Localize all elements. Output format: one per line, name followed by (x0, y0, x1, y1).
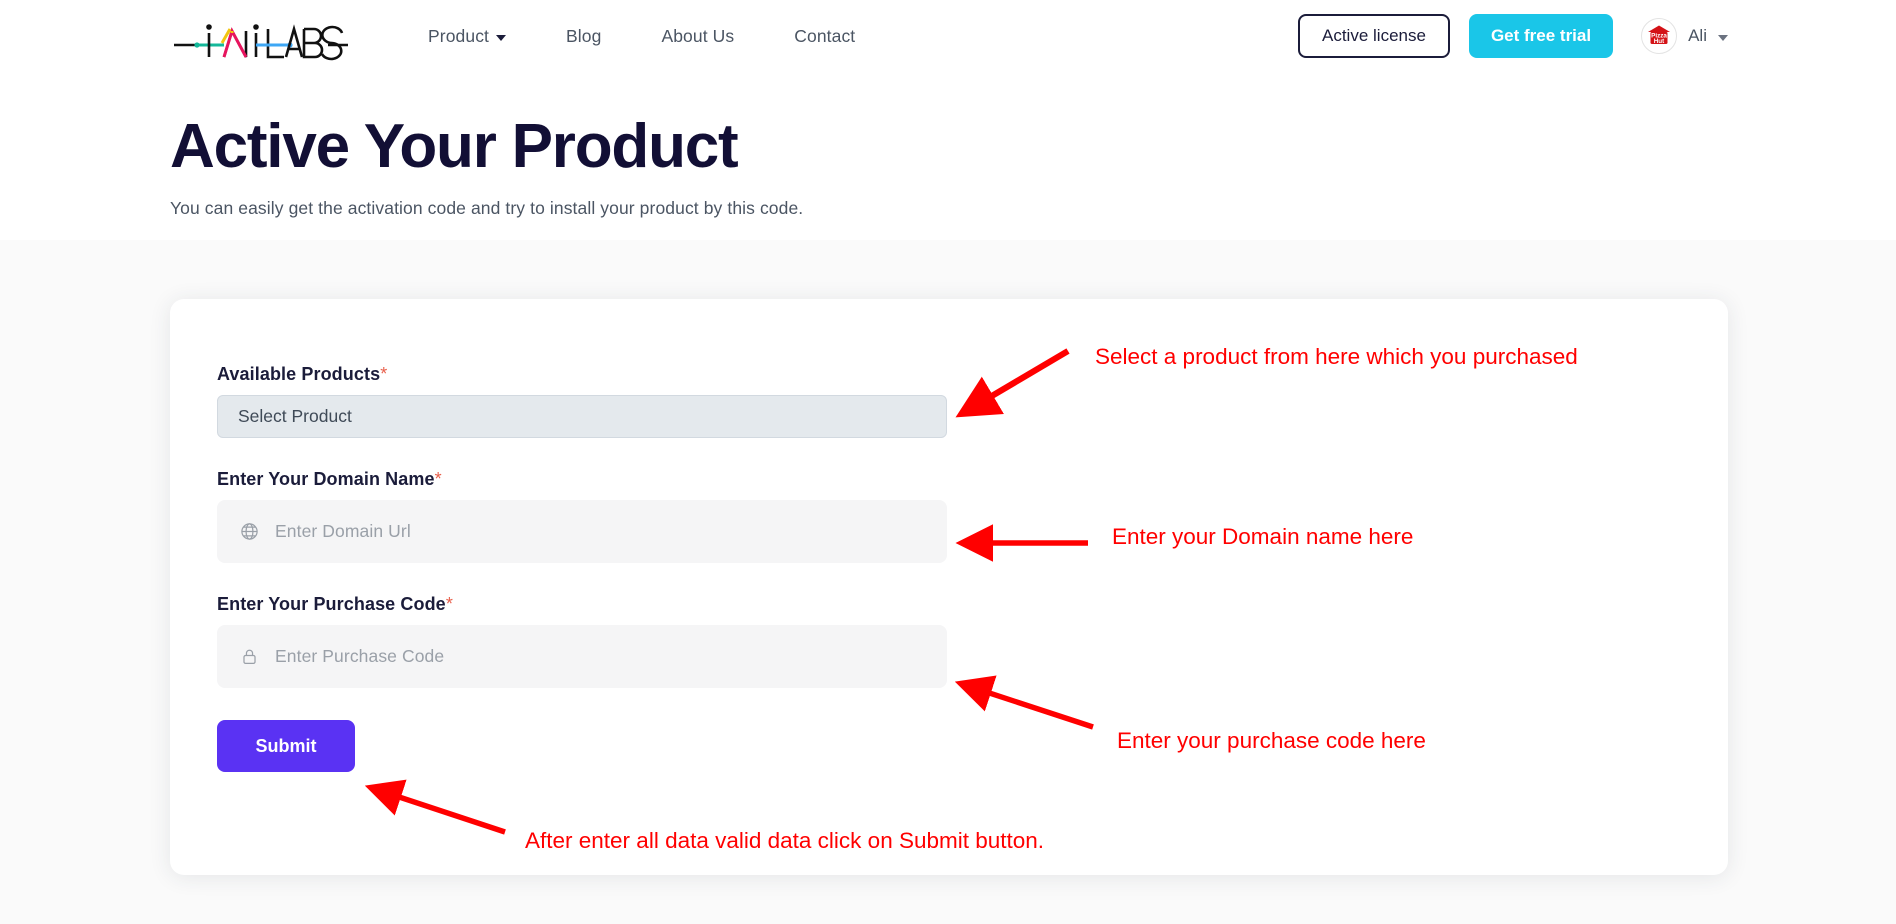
nav-item-label: About Us (661, 26, 734, 47)
chevron-down-icon (496, 35, 506, 41)
field-label: Available Products* (217, 364, 1117, 385)
field-domain-name: Enter Your Domain Name* Enter Domain Url (217, 469, 1117, 563)
chevron-down-icon (1718, 35, 1728, 41)
page-subtitle: You can easily get the activation code a… (170, 198, 803, 219)
page-title: Active Your Product (170, 112, 803, 182)
field-label: Enter Your Purchase Code* (217, 594, 1117, 615)
get-free-trial-button[interactable]: Get free trial (1469, 14, 1613, 58)
nav-item-label: Contact (794, 26, 855, 47)
required-asterisk: * (446, 594, 453, 614)
domain-input[interactable]: Enter Domain Url (217, 500, 947, 563)
svg-text:Hut: Hut (1654, 38, 1665, 45)
logo-mark (172, 17, 350, 63)
label-text: Enter Your Domain Name (217, 469, 435, 489)
domain-input-placeholder: Enter Domain Url (275, 521, 411, 542)
purchase-code-input-placeholder: Enter Purchase Code (275, 646, 444, 667)
nav-item-product[interactable]: Product (428, 26, 506, 47)
activation-card: Available Products* Select Product Enter… (170, 299, 1728, 875)
label-text: Available Products (217, 364, 380, 384)
page-root: Product Blog About Us Contact Active lic… (0, 0, 1896, 924)
label-text: Enter Your Purchase Code (217, 594, 446, 614)
purchase-code-input[interactable]: Enter Purchase Code (217, 625, 947, 688)
product-select[interactable]: Select Product (217, 395, 947, 438)
lock-icon (239, 647, 259, 667)
field-label: Enter Your Domain Name* (217, 469, 1117, 490)
required-asterisk: * (435, 469, 442, 489)
page-heading-block: Active Your Product You can easily get t… (170, 112, 803, 219)
required-asterisk: * (380, 364, 387, 384)
nav-item-label: Blog (566, 26, 601, 47)
active-license-button[interactable]: Active license (1298, 14, 1450, 58)
avatar: Pizza Hut (1641, 18, 1677, 54)
header-actions: Active license Get free trial Pizza Hut … (1298, 14, 1728, 58)
inilabs-logo[interactable] (172, 16, 350, 64)
nav-item-contact[interactable]: Contact (794, 26, 855, 47)
submit-button[interactable]: Submit (217, 720, 355, 772)
nav-item-blog[interactable]: Blog (566, 26, 601, 47)
nav-item-about-us[interactable]: About Us (661, 26, 734, 47)
product-select-value: Select Product (238, 406, 352, 427)
site-header: Product Blog About Us Contact Active lic… (0, 0, 1896, 82)
globe-icon (239, 522, 259, 542)
user-menu[interactable]: Pizza Hut Ali (1641, 18, 1728, 54)
nav-item-label: Product (428, 26, 489, 47)
activation-form: Available Products* Select Product Enter… (217, 364, 1117, 772)
main-nav: Product Blog About Us Contact (428, 26, 855, 47)
user-name: Ali (1688, 26, 1707, 46)
field-available-products: Available Products* Select Product (217, 364, 1117, 438)
pizza-hut-logo-icon: Pizza Hut (1642, 19, 1676, 53)
field-purchase-code: Enter Your Purchase Code* Enter Purchase… (217, 594, 1117, 688)
